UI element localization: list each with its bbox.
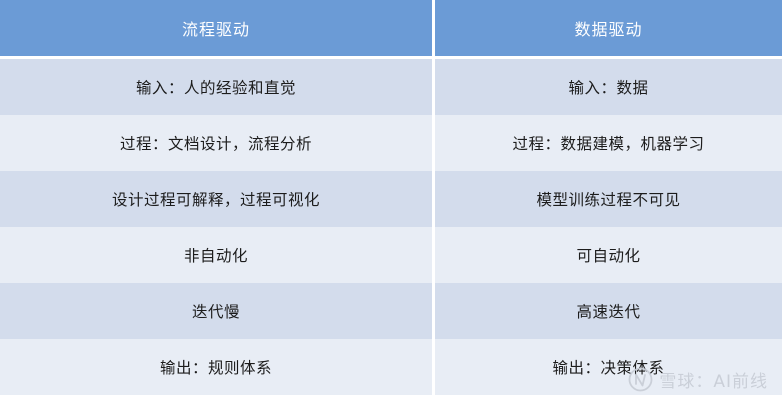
cell-data-driven-process: 过程：数据建模，机器学习 (435, 115, 782, 171)
column-header-data-driven: 数据驱动 (435, 0, 782, 56)
cell-data-driven-output: 输出：决策体系 (435, 339, 782, 395)
cell-process-driven-process: 过程：文档设计，流程分析 (0, 115, 432, 171)
comparison-table: 流程驱动 数据驱动 输入：人的经验和直觉 输入：数据 过程：文档设计，流程分析 … (0, 0, 782, 400)
table-header-row: 流程驱动 数据驱动 (0, 0, 782, 56)
table-row: 非自动化 可自动化 (0, 227, 782, 283)
table-row: 设计过程可解释，过程可视化 模型训练过程不可见 (0, 171, 782, 227)
cell-process-driven-automation: 非自动化 (0, 227, 432, 283)
table-row: 迭代慢 高速迭代 (0, 283, 782, 339)
cell-data-driven-automation: 可自动化 (435, 227, 782, 283)
cell-process-driven-iteration: 迭代慢 (0, 283, 432, 339)
cell-data-driven-iteration: 高速迭代 (435, 283, 782, 339)
cell-process-driven-input: 输入：人的经验和直觉 (0, 59, 432, 115)
column-header-process-driven: 流程驱动 (0, 0, 432, 56)
cell-data-driven-explainability: 模型训练过程不可见 (435, 171, 782, 227)
cell-data-driven-input: 输入：数据 (435, 59, 782, 115)
table-row: 过程：文档设计，流程分析 过程：数据建模，机器学习 (0, 115, 782, 171)
cell-process-driven-explainability: 设计过程可解释，过程可视化 (0, 171, 432, 227)
table-row: 输入：人的经验和直觉 输入：数据 (0, 59, 782, 115)
cell-process-driven-output: 输出：规则体系 (0, 339, 432, 395)
table-row: 输出：规则体系 输出：决策体系 (0, 339, 782, 395)
